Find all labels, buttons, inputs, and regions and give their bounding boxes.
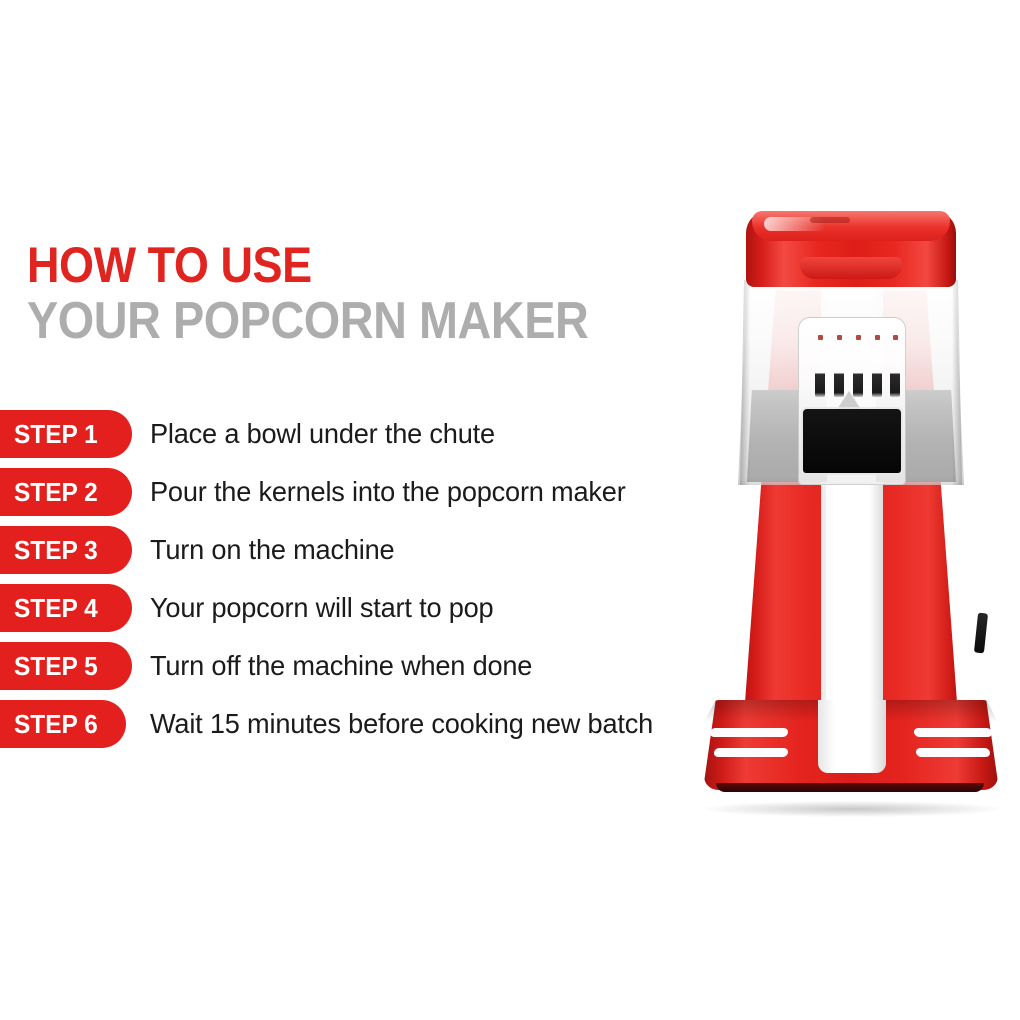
step-description-2: Pour the kernels into the popcorn maker xyxy=(150,468,640,516)
step-description-5: Turn off the machine when done xyxy=(150,642,544,690)
step-badge-1: STEP 1 xyxy=(0,410,132,458)
base-foot xyxy=(716,783,984,792)
vent-marker-icon xyxy=(893,335,898,340)
clear-housing-edge-left xyxy=(740,280,750,485)
step-badge-5: STEP 5 xyxy=(0,642,132,690)
title-line-secondary: YOUR POPCORN MAKER xyxy=(27,295,588,347)
page-title: HOW TO USE YOUR POPCORN MAKER xyxy=(27,240,651,347)
clear-housing-edge-right xyxy=(952,280,962,485)
step-description-3: Turn on the machine xyxy=(150,526,402,574)
step-badge-label: STEP 4 xyxy=(14,593,98,624)
step-badge-label: STEP 2 xyxy=(14,477,98,508)
vent-marker-icon xyxy=(818,335,823,340)
title-line-primary: HOW TO USE xyxy=(27,240,588,290)
lid-handle[interactable] xyxy=(800,257,902,279)
vent-marker-icon xyxy=(875,335,880,340)
chute-opening xyxy=(803,409,901,473)
step-badge-4: STEP 4 xyxy=(0,584,132,632)
step-badge-2: STEP 2 xyxy=(0,468,132,516)
base-center-panel xyxy=(818,700,886,773)
vent-marker-icon xyxy=(837,335,842,340)
vent-slot-icon xyxy=(890,343,900,397)
power-cord xyxy=(974,613,988,654)
product-body xyxy=(690,195,1010,795)
product-drop-shadow xyxy=(702,801,1002,817)
base-stripe-right-lower xyxy=(915,748,990,757)
step-description-6: Wait 15 minutes before cooking new batch xyxy=(150,700,669,748)
list-item: STEP 1 Place a bowl under the chute xyxy=(0,410,700,458)
vent-marker-icon xyxy=(856,335,861,340)
step-badge-label: STEP 5 xyxy=(14,651,98,682)
step-badge-6: STEP 6 xyxy=(0,700,126,748)
list-item: STEP 5 Turn off the machine when done xyxy=(0,642,700,690)
step-badge-label: STEP 1 xyxy=(14,419,98,450)
list-item: STEP 3 Turn on the machine xyxy=(0,526,700,574)
vent-slot-icon xyxy=(853,343,863,397)
lid-emboss-mark xyxy=(810,217,850,223)
step-badge-label: STEP 3 xyxy=(14,535,98,566)
list-item: STEP 4 Your popcorn will start to pop xyxy=(0,584,700,632)
step-description-1: Place a bowl under the chute xyxy=(150,410,506,458)
step-description-4: Your popcorn will start to pop xyxy=(150,584,504,632)
vent-slot-icon xyxy=(872,343,882,397)
warning-triangle-icon xyxy=(836,391,862,411)
list-item: STEP 2 Pour the kernels into the popcorn… xyxy=(0,468,700,516)
vent-slot-icon xyxy=(815,343,825,397)
base-stripe-left-lower xyxy=(713,748,788,757)
vent-slot-icon xyxy=(834,343,844,397)
product-image-popcorn-maker xyxy=(690,195,1010,815)
base-stripe-left-upper xyxy=(709,728,788,737)
step-badge-label: STEP 6 xyxy=(14,709,98,740)
list-item: STEP 6 Wait 15 minutes before cooking ne… xyxy=(0,700,700,748)
base-stripe-right-upper xyxy=(913,728,992,737)
page-root: HOW TO USE YOUR POPCORN MAKER STEP 1 Pla… xyxy=(0,0,1020,1020)
step-badge-3: STEP 3 xyxy=(0,526,132,574)
steps-list: STEP 1 Place a bowl under the chute STEP… xyxy=(0,410,700,758)
